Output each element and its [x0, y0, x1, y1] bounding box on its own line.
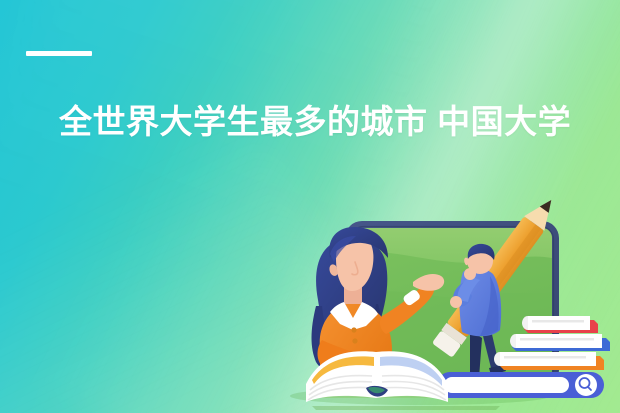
- search-input: [444, 377, 569, 393]
- woman-button: [351, 327, 356, 332]
- search-bar: [437, 372, 604, 398]
- online-education-illustration: [0, 0, 620, 413]
- woman-button: [352, 338, 357, 343]
- open-book-shadow: [312, 406, 500, 410]
- boy-hand-lower: [450, 296, 462, 308]
- book-bottom-pages: [500, 352, 596, 366]
- book-middle-pages: [516, 334, 602, 348]
- book-top-pages: [528, 316, 590, 330]
- hero-banner: 全世界大学生最多的城市 中国大学: [0, 0, 620, 413]
